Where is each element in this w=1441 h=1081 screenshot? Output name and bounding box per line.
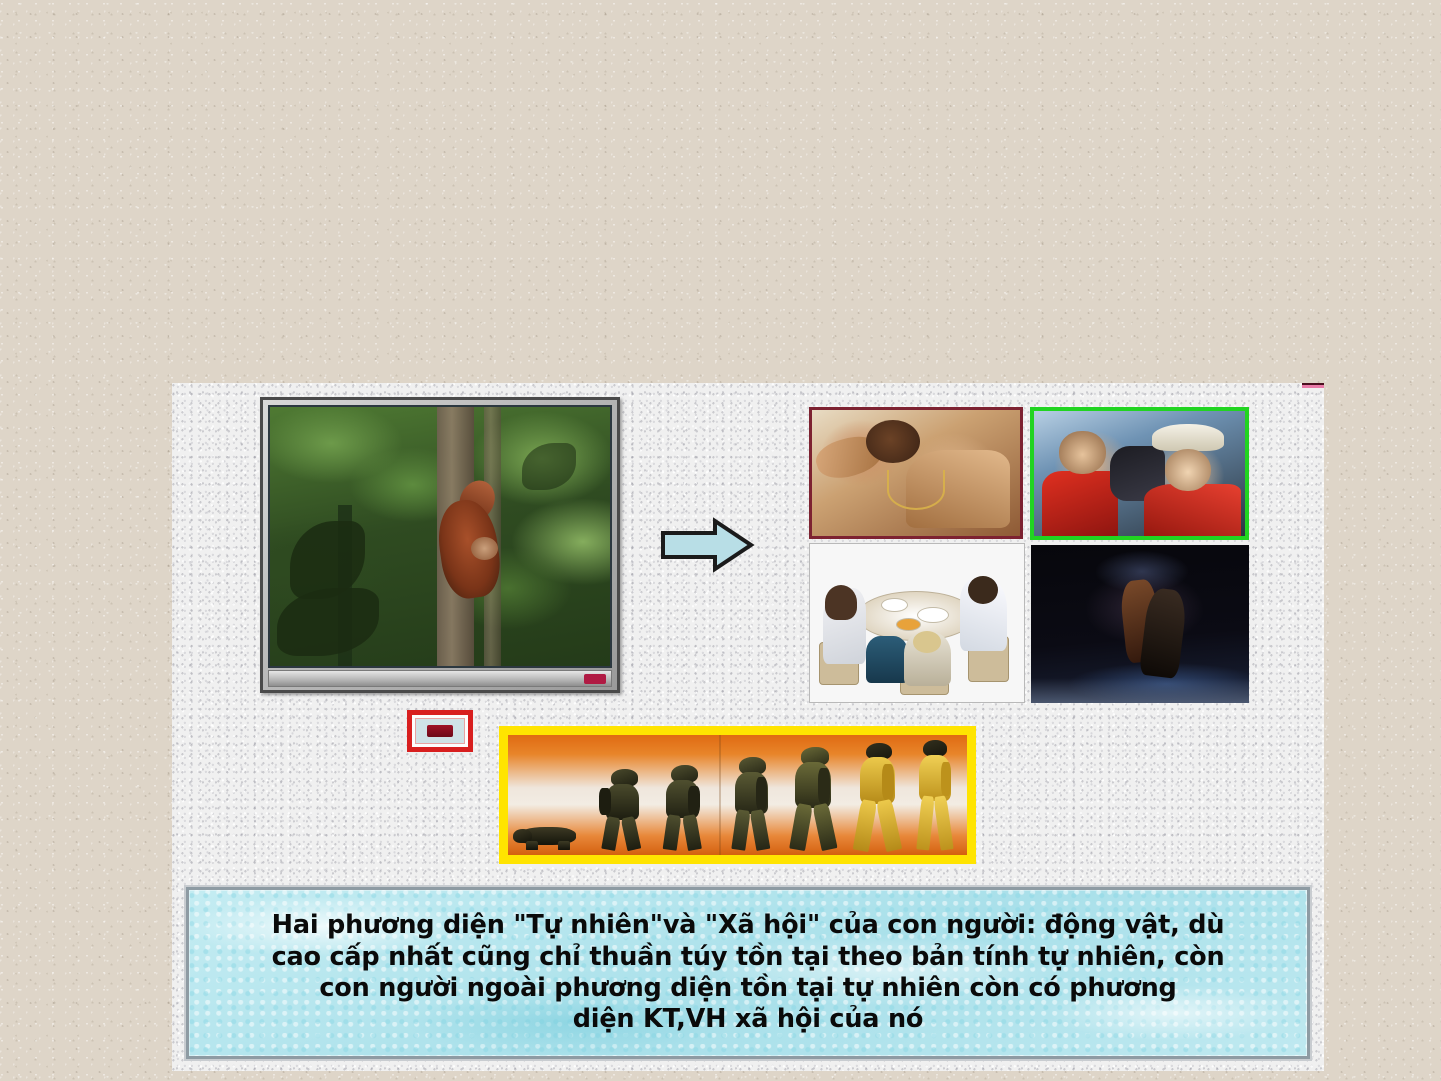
evolution-figure-1 xyxy=(513,819,586,850)
evolution-figure-2 xyxy=(595,771,650,850)
human-evolution-strip[interactable] xyxy=(499,726,976,864)
head xyxy=(866,420,920,463)
orangutan-video-frame[interactable] xyxy=(260,397,620,693)
slide-content-panel: Hai phương diện "Tự nhiên"và "Xã hội" củ… xyxy=(172,383,1324,1071)
corner-accent-mark xyxy=(1302,383,1324,388)
orangutan-video-screen xyxy=(268,405,612,668)
media-thumbnail-inner xyxy=(415,718,465,744)
evolution-figure-5 xyxy=(783,749,843,850)
orangutan-head xyxy=(471,537,498,560)
person-seated-blue xyxy=(866,636,909,683)
stage-floor xyxy=(1031,678,1249,703)
evolution-figure-3 xyxy=(655,766,710,850)
white-headdress xyxy=(1152,424,1224,452)
right-arrow-icon xyxy=(659,516,755,574)
caption-text: Hai phương diện "Tự nhiên"và "Xã hội" củ… xyxy=(256,910,1241,1035)
hair xyxy=(913,631,941,653)
evolution-figure-4 xyxy=(724,759,779,850)
photo-stage-dancers[interactable] xyxy=(1031,545,1249,703)
red-costume-right xyxy=(1144,484,1241,537)
media-chip-icon xyxy=(427,725,453,737)
red-framed-media-thumbnail[interactable] xyxy=(407,710,473,752)
evolution-figure-7 xyxy=(907,742,962,850)
monitor-bottom-bezel xyxy=(268,670,612,687)
hair xyxy=(968,576,998,604)
head-right xyxy=(1165,449,1211,492)
caption-text-box: Hai phương diện "Tự nhiên"và "Xã hội" củ… xyxy=(186,887,1310,1059)
head-left xyxy=(1059,431,1105,474)
photo-family-dining[interactable] xyxy=(809,543,1025,703)
necklace xyxy=(887,470,945,510)
photo-man-drinking[interactable] xyxy=(809,407,1023,539)
slide-background: Hai phương diện "Tự nhiên"và "Xã hội" củ… xyxy=(0,0,1441,1081)
evolution-figure-6 xyxy=(848,745,908,851)
power-led-icon xyxy=(584,674,606,684)
hair xyxy=(825,585,857,620)
panel-seam xyxy=(719,735,721,855)
photo-ethnic-women[interactable] xyxy=(1030,407,1249,540)
human-society-photo-collage xyxy=(809,407,1249,703)
red-costume-left xyxy=(1042,471,1118,536)
